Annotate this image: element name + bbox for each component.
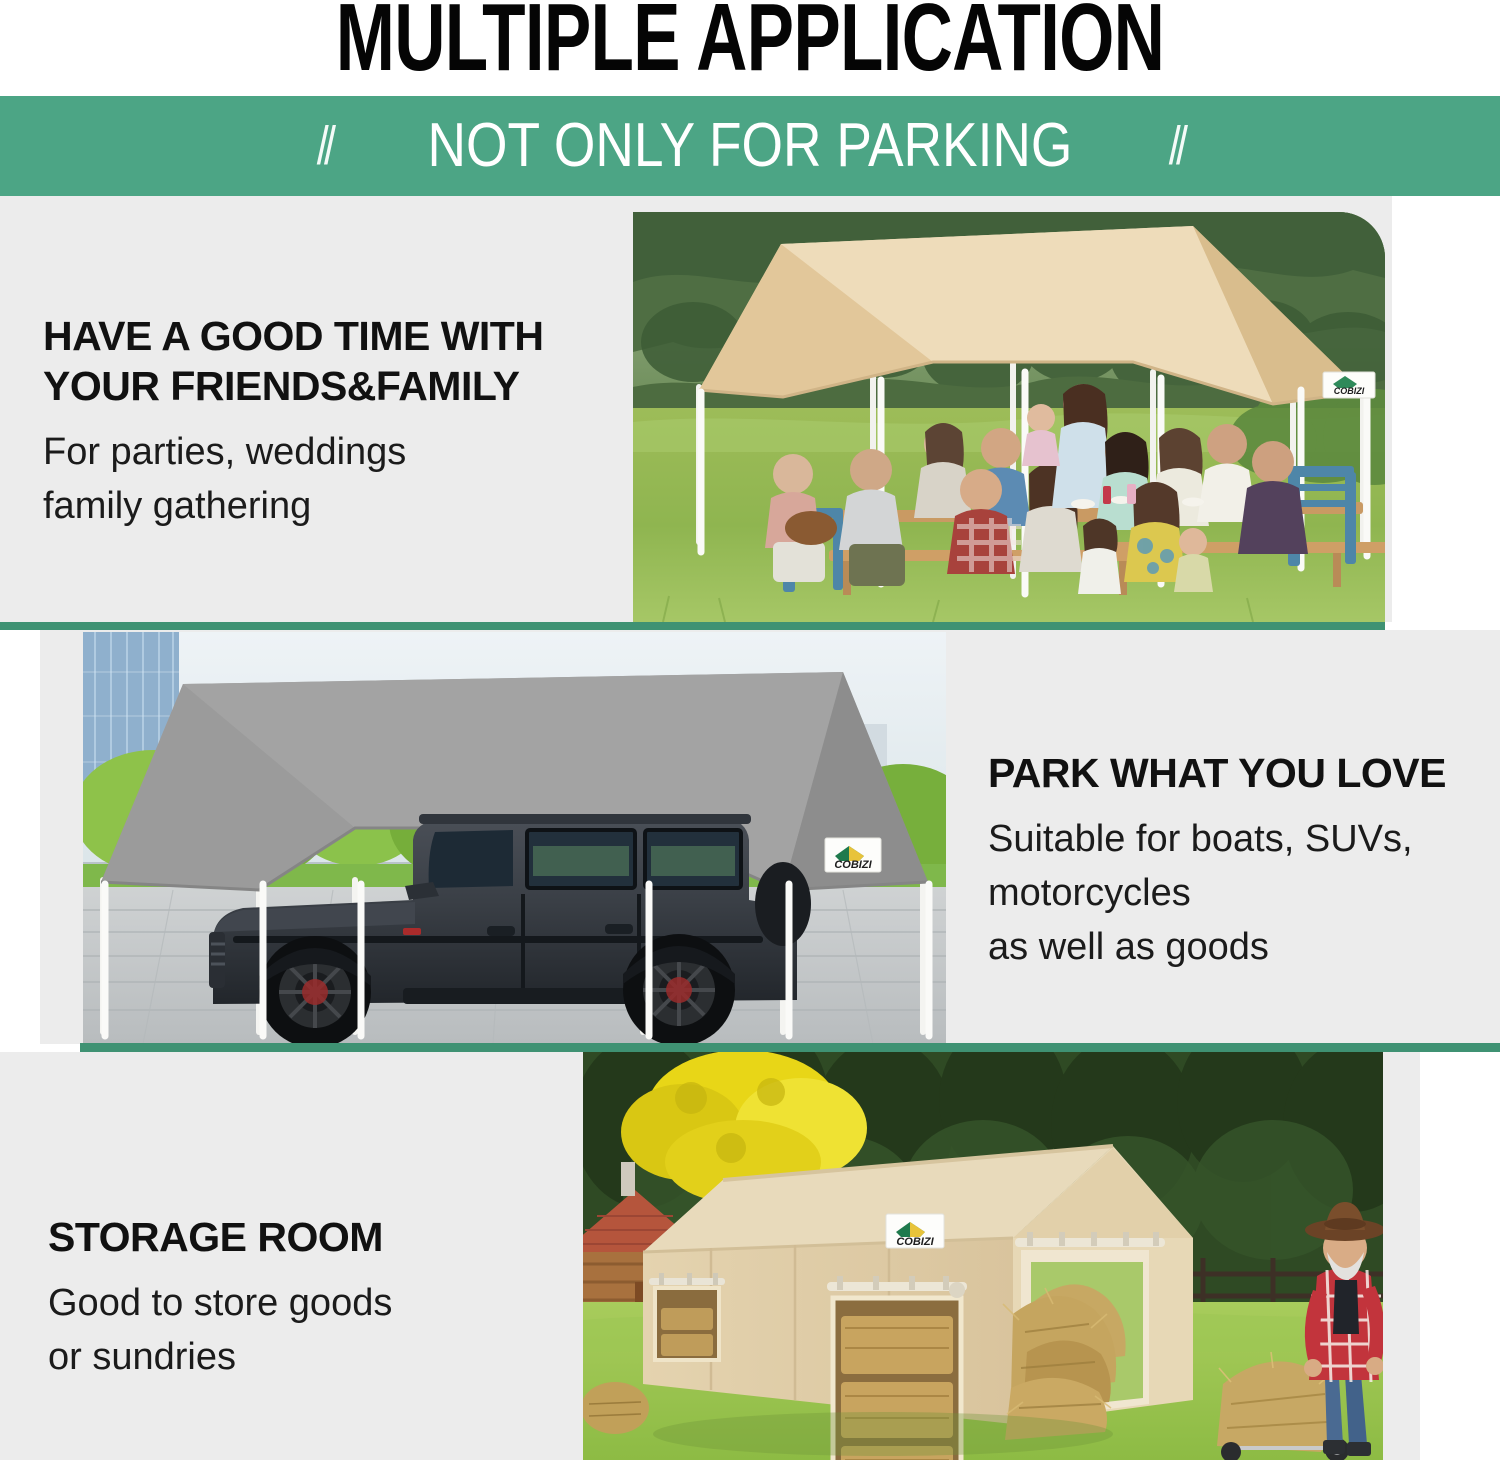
svg-text:COBIZI: COBIZI (834, 859, 872, 871)
panel-subtext-line: family gathering (43, 479, 613, 533)
storage-carport-illustration: COBIZI (583, 1052, 1383, 1460)
banner-subtitle: NOT ONLY FOR PARKING (428, 115, 1073, 177)
panel-heading-line: HAVE A GOOD TIME WITH (43, 311, 613, 361)
panel-subtext-line: For parties, weddings (43, 425, 613, 479)
feature-panel-parties: HAVE A GOOD TIME WITH YOUR FRIENDS&FAMIL… (0, 196, 1500, 630)
panel-photo-storage-carport: COBIZI (583, 1052, 1383, 1460)
panel-heading-line: YOUR FRIENDS&FAMILY (43, 361, 613, 411)
panel-heading-line: STORAGE ROOM (48, 1212, 568, 1262)
panel-text-block: STORAGE ROOM Good to store goods or sund… (48, 1212, 568, 1384)
page-title: MULTIPLE APPLICATION (195, 0, 1305, 86)
panel-photo-family-gathering: COBIZI (633, 212, 1385, 622)
panel-divider (0, 622, 1385, 630)
panel-subtext-line: Suitable for boats, SUVs, (988, 812, 1488, 866)
family-gathering-illustration: COBIZI (633, 212, 1385, 622)
panel-photo-suv-carport: COBIZI (83, 632, 946, 1044)
panel-subtext-line: Good to store goods (48, 1276, 568, 1330)
suv-carport-illustration: COBIZI (83, 632, 946, 1044)
svg-text:COBIZI: COBIZI (1334, 386, 1365, 396)
feature-panel-parking: COBIZI PARK WHAT YOU LOVE Suitable for b… (0, 630, 1500, 1052)
panel-heading-line: PARK WHAT YOU LOVE (988, 748, 1488, 798)
panel-divider (80, 1043, 1500, 1052)
banner-slash-right-icon: // (1169, 119, 1183, 173)
panel-subtext-line: motorcycles (988, 866, 1488, 920)
header-banner: // NOT ONLY FOR PARKING // (0, 96, 1500, 196)
banner-slash-left-icon: // (317, 119, 331, 173)
panel-subtext-line: as well as goods (988, 920, 1488, 974)
panel-subtext-line: or sundries (48, 1330, 568, 1384)
panel-text-block: HAVE A GOOD TIME WITH YOUR FRIENDS&FAMIL… (43, 311, 613, 533)
panel-text-block: PARK WHAT YOU LOVE Suitable for boats, S… (988, 748, 1488, 974)
feature-panel-storage: STORAGE ROOM Good to store goods or sund… (0, 1052, 1500, 1460)
svg-text:COBIZI: COBIZI (896, 1236, 934, 1248)
